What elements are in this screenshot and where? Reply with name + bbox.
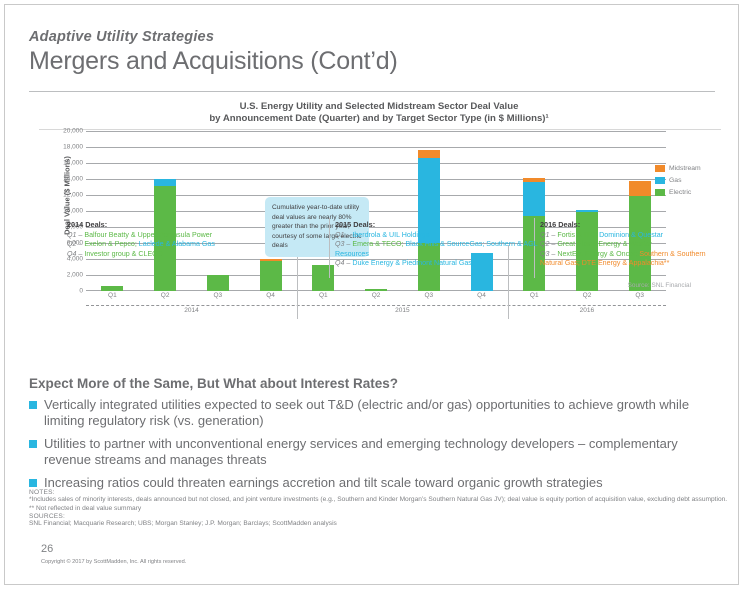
year-group-label: 2016: [508, 307, 666, 314]
deal-quarter-label: Q1 –: [335, 231, 352, 239]
chart-title-line-1: U.S. Energy Utility and Selected Midstre…: [29, 101, 729, 113]
bar-segment-gas[interactable]: [523, 182, 545, 216]
x-axis-year-labels: 201420152016: [86, 307, 666, 319]
x-axis-tick-label: Q1: [86, 292, 139, 304]
deal-quarter-label: Q3 –: [540, 250, 557, 258]
legend-item[interactable]: Midstream: [655, 165, 721, 172]
bar-segment-midstream[interactable]: [418, 150, 440, 158]
deal-quarter-label: Q1 –: [540, 231, 557, 239]
x-axis-tick-label: Q3: [191, 292, 244, 304]
deal-name-gas: Iberdrola & UIL Holdings: [352, 231, 429, 239]
legend-swatch-icon: [655, 189, 665, 196]
chart-title: U.S. Energy Utility and Selected Midstre…: [29, 99, 729, 125]
section-subheading: Expect More of the Same, But What about …: [29, 376, 398, 391]
deal-line: Q3 – Emera & TECO; Black Hills & SourceG…: [335, 240, 540, 259]
deal-line: Q1 – Balfour Beatty & Upper Peninsula Po…: [67, 231, 357, 240]
y-axis-tick: 0: [43, 288, 83, 295]
stacked-bar[interactable]: [365, 289, 387, 291]
deal-line: Q3 – NextEra Energy & Oncor; Southern & …: [540, 250, 720, 269]
x-axis-tick-label: Q2: [350, 292, 403, 304]
deal-quarter-label: Q1 –: [67, 231, 84, 239]
deal-name-gas: Duke Energy & Piedmont Natural Gas: [352, 259, 471, 267]
deals-list-2014: Q1 – Balfour Beatty & Upper Peninsula Po…: [67, 231, 357, 259]
bullet-square-icon: [29, 440, 37, 448]
legend-item[interactable]: Gas: [655, 177, 721, 184]
deal-name-gas: Laclede & Alabama Gas: [137, 240, 215, 248]
legend-label: Gas: [669, 177, 681, 184]
year-group-label: 2014: [86, 307, 297, 314]
legend-swatch-icon: [655, 177, 665, 184]
bar-segment-electric[interactable]: [101, 286, 123, 291]
sources-text: SNL Financial; Macquarie Research; UBS; …: [29, 520, 729, 529]
bullet-square-icon: [29, 401, 37, 409]
legend-label: Midstream: [669, 165, 701, 172]
slide-eyebrow: Adaptive Utility Strategies: [29, 29, 214, 45]
deal-quarter-label: Q4 –: [335, 259, 352, 267]
chart-source-note: Source: SNL Financial: [628, 282, 691, 289]
slide-canvas: Adaptive Utility Strategies Mergers and …: [4, 4, 739, 585]
x-axis-tick-label: Q4: [455, 292, 508, 304]
copyright-notice: Copyright © 2017 by ScottMadden, Inc. Al…: [41, 559, 186, 565]
year-axis-dashed-line: [86, 305, 666, 306]
deal-line: Q4 – Investor group & CLECO: [67, 250, 357, 259]
x-axis-tick-label: Q3: [613, 292, 666, 304]
x-axis-tick-label: Q1: [508, 292, 561, 304]
deals-column-2016: 2016 Deals: Q1 – Fortis & ITC; Dominion …: [540, 220, 720, 269]
y-axis-tick: 16,000: [43, 160, 83, 167]
deals-column-2015: 2015 Deals: Q1 – Iberdrola & UIL Holding…: [335, 220, 540, 269]
x-axis-quarter-labels: Q1Q2Q3Q4Q1Q2Q3Q4Q1Q2Q3: [86, 292, 666, 304]
deal-name-electric: Exelon & Pepco;: [84, 240, 136, 248]
deal-quarter-label: Q3 –: [335, 240, 352, 248]
deal-name-electric: Fortis & ITC;: [557, 231, 597, 239]
deal-name-electric: Emera & TECO;: [352, 240, 403, 248]
deal-name-gas: Dominion & Questar: [597, 231, 663, 239]
bullet-square-icon: [29, 479, 37, 487]
deal-name-electric: Balfour Beatty & Upper Peninsula Power: [84, 231, 212, 239]
bar-segment-gas[interactable]: [154, 179, 176, 186]
deals-list-2015: Q1 – Iberdrola & UIL HoldingsQ3 – Emera …: [335, 231, 540, 269]
notes-label: NOTES:: [29, 489, 729, 496]
page-number: 26: [41, 543, 53, 555]
x-axis-tick-label: Q3: [402, 292, 455, 304]
deal-quarter-label: Q2 –: [540, 240, 557, 248]
x-axis-tick-label: Q1: [297, 292, 350, 304]
deal-name-electric: Great Plains Energy & Westar: [557, 240, 652, 248]
deals-heading-2015: 2015 Deals:: [335, 220, 540, 229]
x-axis-tick-label: Q2: [561, 292, 614, 304]
footnotes-block: NOTES: *Includes sales of minority inter…: [29, 489, 729, 529]
deals-heading-2014: 2014 Deals:: [67, 220, 357, 229]
y-axis-tick: 14,000: [43, 176, 83, 183]
legend-item[interactable]: Electric: [655, 189, 721, 196]
notes-text: *Includes sales of minority interests, d…: [29, 496, 729, 513]
x-axis-tick-label: Q4: [244, 292, 297, 304]
deal-line: Q1 – Iberdrola & UIL Holdings: [335, 231, 540, 240]
deal-name-electric: Investor group & CLECO: [84, 250, 162, 258]
deals-heading-2016: 2016 Deals:: [540, 220, 720, 229]
sources-label: SOURCES:: [29, 513, 729, 520]
legend-swatch-icon: [655, 165, 665, 172]
year-group-label: 2015: [297, 307, 508, 314]
chart-divider: [39, 129, 721, 130]
page-title: Mergers and Acquisitions (Cont’d): [29, 47, 398, 76]
deal-name-electric: NextEra Energy & Oncor;: [557, 250, 637, 258]
bar-segment-electric[interactable]: [365, 289, 387, 291]
bullet-list: Vertically integrated utilities expected…: [29, 397, 719, 498]
deals-column-2014: 2014 Deals: Q1 – Balfour Beatty & Upper …: [67, 220, 357, 259]
deal-line: Q1 – Fortis & ITC; Dominion & Questar: [540, 231, 720, 240]
deal-line: Q2 – Exelon & Pepco; Laclede & Alabama G…: [67, 240, 357, 249]
legend-label: Electric: [669, 189, 691, 196]
deal-quarter-label: Q4 –: [67, 250, 84, 258]
title-divider: [29, 91, 715, 92]
chart-title-line-2: by Announcement Date (Quarter) and by Ta…: [29, 113, 729, 125]
bar-segment-midstream[interactable]: [629, 181, 651, 195]
bullet-item: Utilities to partner with unconventional…: [29, 436, 719, 468]
deals-strip: 2014 Deals: Q1 – Balfour Beatty & Upper …: [15, 220, 697, 282]
deal-quarter-label: Q2 –: [67, 240, 84, 248]
x-axis-tick-label: Q2: [139, 292, 192, 304]
y-axis-tick: 18,000: [43, 144, 83, 151]
bullet-text: Utilities to partner with unconventional…: [44, 436, 719, 468]
stacked-bar[interactable]: [101, 286, 123, 291]
y-axis-tick: 10,000: [43, 208, 83, 215]
chart-legend: MidstreamGasElectric: [655, 165, 721, 201]
deal-line: Q4 – Duke Energy & Piedmont Natural Gas: [335, 259, 540, 268]
bullet-item: Vertically integrated utilities expected…: [29, 397, 719, 429]
bullet-text: Vertically integrated utilities expected…: [44, 397, 719, 429]
y-axis-tick: 12,000: [43, 192, 83, 199]
y-axis-tick: 20,000: [43, 128, 83, 135]
deals-list-2016: Q1 – Fortis & ITC; Dominion & QuestarQ2 …: [540, 231, 720, 269]
deal-line: Q2 – Great Plains Energy & Westar: [540, 240, 720, 249]
